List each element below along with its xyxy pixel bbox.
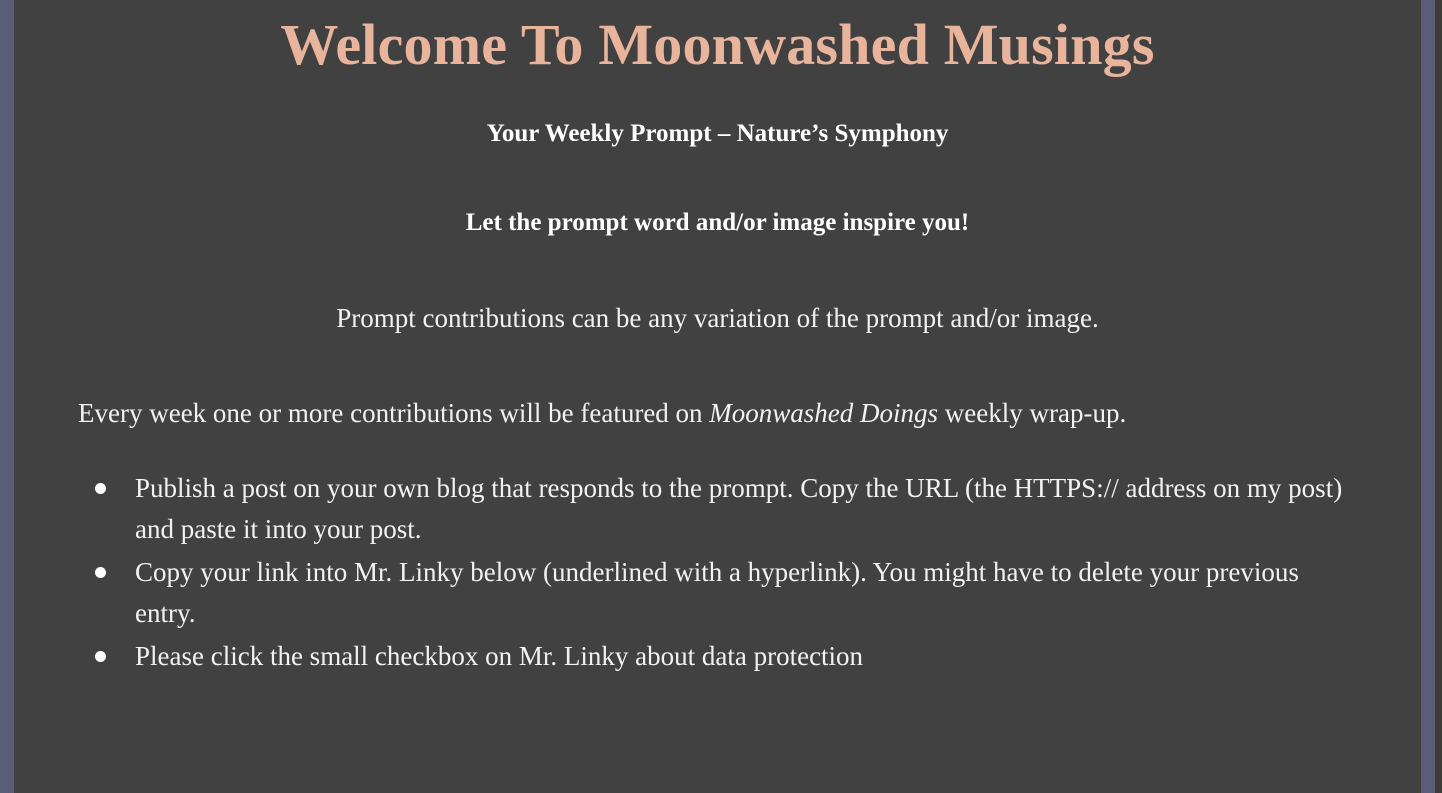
list-item: Publish a post on your own blog that res… [78, 468, 1357, 550]
post-content: Welcome To Moonwashed Musings Your Weekl… [14, 0, 1421, 793]
inspire-heading: Let the prompt word and/or image inspire… [78, 204, 1357, 242]
left-frame-rule [0, 0, 14, 793]
list-item-label: Publish a post on your own blog that res… [135, 473, 1342, 544]
bullet-dot-icon [95, 483, 106, 494]
feature-note-before: Every week one or more contributions wil… [78, 398, 709, 428]
variation-note: Prompt contributions can be any variatio… [78, 298, 1357, 339]
list-item-label: Please click the small checkbox on Mr. L… [135, 641, 863, 671]
list-item: Copy your link into Mr. Linky below (und… [78, 552, 1357, 634]
list-item: Please click the small checkbox on Mr. L… [78, 636, 1357, 677]
blog-post-page: Welcome To Moonwashed Musings Your Weekl… [0, 0, 1442, 793]
instruction-list: Publish a post on your own blog that res… [78, 468, 1357, 677]
page-title: Welcome To Moonwashed Musings [78, 0, 1357, 81]
list-item-label: Copy your link into Mr. Linky below (und… [135, 557, 1299, 628]
right-frame-rule [1421, 0, 1435, 793]
bullet-dot-icon [95, 567, 106, 578]
feature-note-after: weekly wrap-up. [938, 398, 1126, 428]
weekly-prompt-heading: Your Weekly Prompt – Nature’s Symphony [78, 115, 1357, 153]
bullet-dot-icon [95, 651, 106, 662]
feature-note-publication: Moonwashed Doings [709, 398, 938, 428]
right-outer-gutter [1435, 0, 1442, 793]
feature-note: Every week one or more contributions wil… [78, 393, 1357, 434]
